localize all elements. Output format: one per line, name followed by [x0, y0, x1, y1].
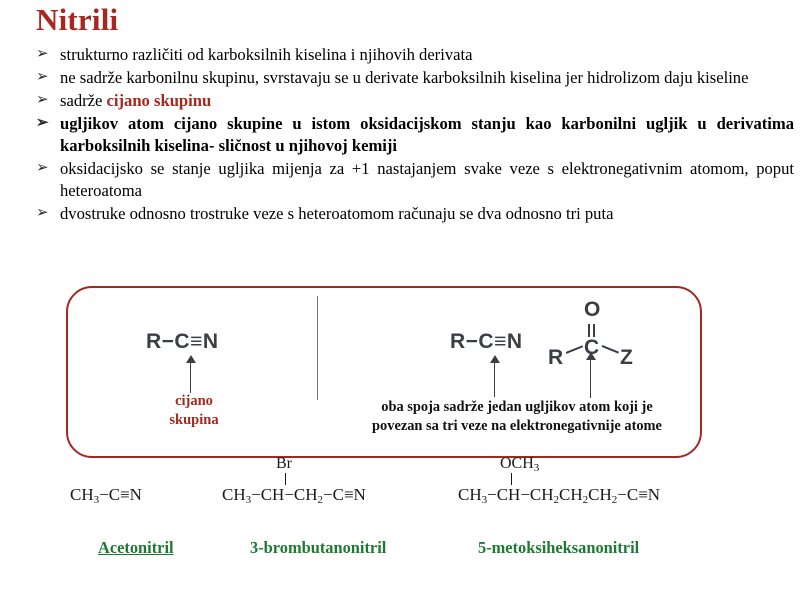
page-title: Nitrili [36, 4, 118, 37]
compound-name-acetonitril: Acetonitril [98, 538, 174, 558]
slide-root: Nitrili ➢ strukturno različiti od karbok… [0, 0, 809, 609]
bullet-text: ne sadrže karbonilnu skupinu, svrstavaju… [60, 68, 748, 87]
bond-r-to-carbon [566, 345, 583, 353]
compound-name-metoksiheksanonitril: 5-metoksiheksanonitril [478, 538, 639, 558]
carbonyl-oxygen-atom: O [584, 298, 600, 322]
bullet-item-3: ➢ sadrže cijano skupinu [34, 90, 794, 112]
bullet-text: dvostruke odnosno trostruke veze s heter… [60, 204, 613, 223]
bullet-arrow-icon: ➢ [36, 44, 49, 65]
structure-brombutanonitril: CH3−CH−CH2−C≡N [222, 485, 366, 506]
bullet-item-4: ➢ ugljikov atom cijano skupine u istom o… [34, 113, 794, 157]
box-caption-line2: povezan sa tri veze na elektronegativnij… [352, 417, 682, 436]
bullet-list: ➢ strukturno različiti od karboksilnih k… [34, 44, 794, 227]
substituent-br: Br [276, 455, 292, 473]
bullet-item-6: ➢ dvostruke odnosno trostruke veze s het… [34, 203, 794, 225]
box-caption: oba spoja sadrže jedan ugljikov atom koj… [352, 398, 682, 436]
bullet-text: sadrže [60, 91, 107, 110]
bullet-text: strukturno različiti od karboksilnih kis… [60, 45, 472, 64]
bullet-arrow-icon: ➢ [36, 158, 49, 179]
box-caption-line1: oba spoja sadrže jedan ugljikov atom koj… [352, 398, 682, 417]
label-cijano-skupina: cijano skupina [150, 392, 238, 429]
bullet-arrow-icon: ➢ [36, 203, 49, 224]
formula-nitrile-right: R−C≡N [450, 330, 523, 354]
carbonyl-z-group: Z [620, 346, 633, 370]
bond-och3-vertical [511, 473, 512, 485]
label-cijano-line2: skupina [150, 411, 238, 430]
bullet-arrow-icon: ➢ [36, 67, 49, 88]
bond-carbon-to-z [602, 345, 619, 353]
structure-metoksiheksanonitril: CH3−CH−CH2CH2CH2−C≡N [458, 485, 660, 506]
bullet-text: ugljikov atom cijano skupine u istom oks… [60, 114, 794, 155]
structure-acetonitril: CH3−C≡N [70, 485, 142, 506]
bullet-text: oksidacijsko se stanje ugljika mijenja z… [60, 159, 794, 200]
compound-name-brombutanonitril: 3-brombutanonitril [250, 538, 386, 558]
box-divider [317, 296, 318, 400]
bullet-item-1: ➢ strukturno različiti od karboksilnih k… [34, 44, 794, 66]
bullet-arrow-icon: ➢ [36, 90, 49, 111]
bullet-item-2: ➢ ne sadrže karbonilnu skupinu, svrstava… [34, 67, 794, 89]
bullet-item-5: ➢ oksidacijsko se stanje ugljika mijenja… [34, 158, 794, 202]
substituent-och3: OCH3 [500, 455, 539, 474]
label-cijano-line1: cijano [150, 392, 238, 411]
formula-nitrile-left: R−C≡N [146, 330, 219, 354]
bullet-arrow-icon: ➢ [36, 113, 49, 134]
bullet-highlight-cijano-skupinu: cijano skupinu [107, 91, 212, 110]
carbonyl-r-group: R [548, 346, 563, 370]
bond-br-vertical [285, 473, 286, 485]
